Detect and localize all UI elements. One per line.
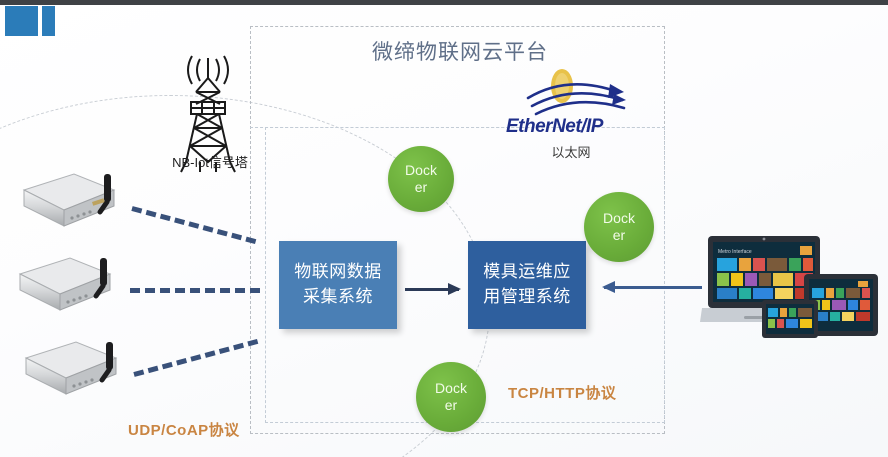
tower-label: NB-Iot信号塔 <box>140 152 280 171</box>
docker-label-line-1: Dock <box>597 210 641 228</box>
laptop-tablet-phone-cluster: Metro Interface <box>700 232 882 342</box>
connector-device-2 <box>130 288 260 293</box>
ethernet-ip-subtitle: 以太网 <box>506 142 636 161</box>
brand-logo-primary <box>5 6 38 36</box>
gateway-device-icon <box>14 252 126 318</box>
gateway-device-icon <box>18 168 130 234</box>
docker-label-line-1: Dock <box>399 162 443 180</box>
ethernet-ip-wordmark: EtherNet/IP <box>506 116 624 138</box>
brand-logo-secondary <box>42 6 55 36</box>
docker-label-line-2: er <box>399 179 443 197</box>
system-box-line-1: 模具运维应 <box>477 260 577 285</box>
page-title: 微缔物联网云平台 <box>310 36 610 66</box>
docker-badge-top[interactable]: Dock er <box>388 146 454 212</box>
diagram-canvas: 微缔物联网云平台 <box>0 0 888 457</box>
gateway-device-icon <box>20 336 132 402</box>
system-box-line-2: 采集系统 <box>288 285 388 310</box>
system-box-data-collection[interactable]: 物联网数据 采集系统 <box>279 241 397 329</box>
docker-badge-bottom[interactable]: Dock er <box>416 362 486 432</box>
ethernet-swoosh-icon <box>506 68 636 118</box>
arrow-clients-to-app-icon <box>604 286 702 289</box>
arrow-collector-to-app-icon <box>405 288 459 291</box>
protocol-label-udp-coap: UDP/CoAP协议 <box>128 419 240 440</box>
docker-label-line-1: Dock <box>429 380 473 398</box>
docker-label-line-2: er <box>597 227 641 245</box>
svg-text:Metro Interface: Metro Interface <box>718 249 752 255</box>
system-box-line-1: 物联网数据 <box>288 260 388 285</box>
protocol-label-tcp-http: TCP/HTTP协议 <box>508 382 616 403</box>
docker-badge-right[interactable]: Dock er <box>584 192 654 262</box>
docker-label-line-2: er <box>429 397 473 415</box>
ethernet-ip-logo: EtherNet/IP 以太网 <box>506 68 636 162</box>
top-bar <box>0 0 888 5</box>
system-box-mold-ops-management[interactable]: 模具运维应 用管理系统 <box>468 241 586 329</box>
system-box-line-2: 用管理系统 <box>477 285 577 310</box>
